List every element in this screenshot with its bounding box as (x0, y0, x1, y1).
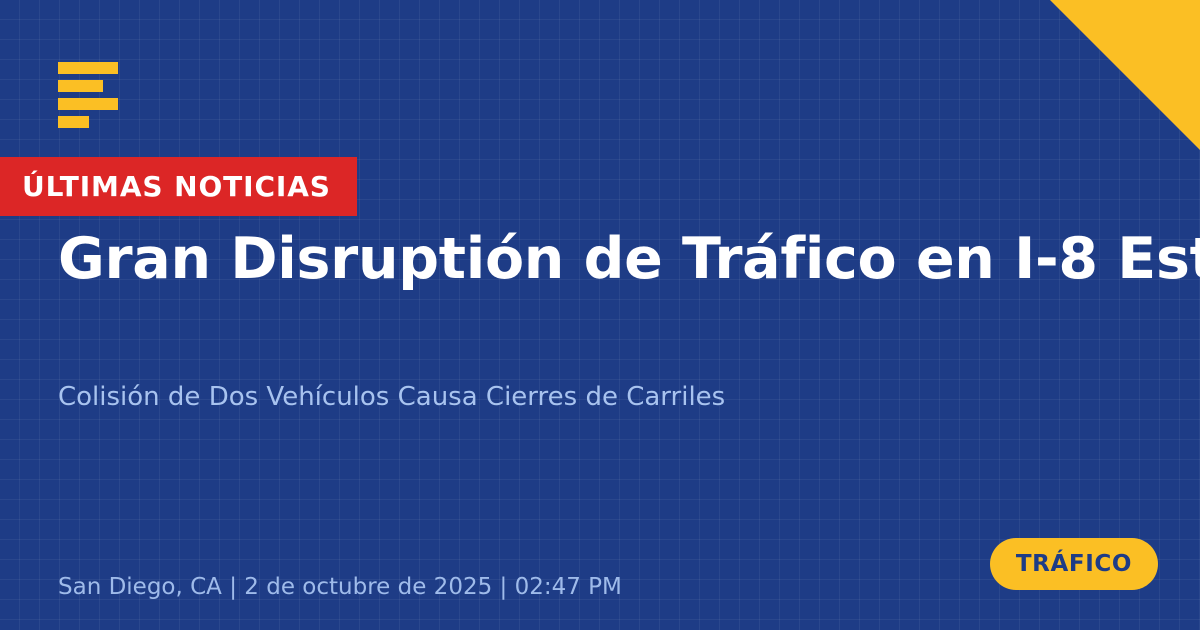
breaking-news-card: ÚLTIMAS NOTICIAS Gran Disruptión de Tráf… (0, 0, 1200, 630)
logo-bar-2-icon (58, 80, 103, 92)
subheadline: Colisión de Dos Vehículos Causa Cierres … (58, 380, 1108, 415)
meta-line: San Diego, CA | 2 de octubre de 2025 | 0… (58, 574, 622, 602)
category-badge-trafico: TRÁFICO (990, 538, 1158, 590)
breaking-news-badge: ÚLTIMAS NOTICIAS (0, 157, 357, 216)
logo-bar-4-icon (58, 116, 89, 128)
logo-bar-3-icon (58, 98, 118, 110)
brand-logo (58, 62, 126, 128)
headline: Gran Disruptión de Tráfico en I-8 Este (58, 228, 1158, 292)
card-content: ÚLTIMAS NOTICIAS Gran Disruptión de Tráf… (0, 0, 1200, 630)
logo-bar-1-icon (58, 62, 118, 74)
